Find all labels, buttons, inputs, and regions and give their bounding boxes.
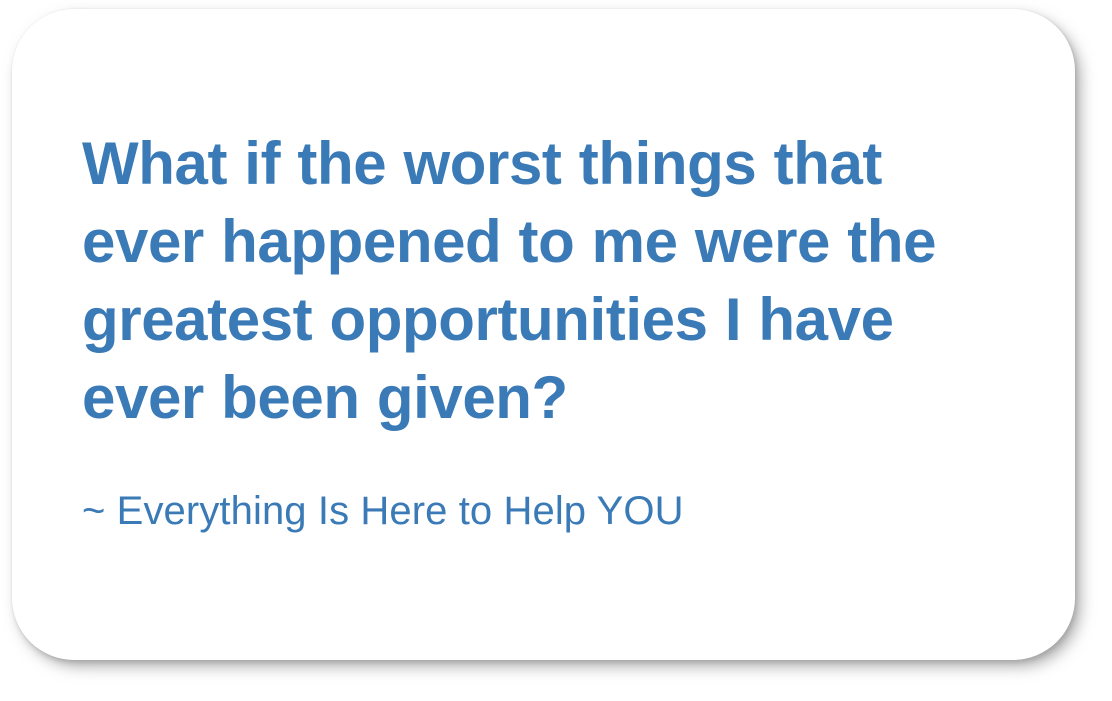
- quote-headline: What if the worst things that ever happe…: [82, 125, 1015, 437]
- quote-card-body: What if the worst things that ever happe…: [82, 125, 1015, 535]
- quote-attribution: ~ Everything Is Here to Help YOU: [82, 437, 1015, 535]
- quote-image-canvas: What if the worst things that ever happe…: [0, 0, 1112, 701]
- quote-card: What if the worst things that ever happe…: [12, 9, 1075, 660]
